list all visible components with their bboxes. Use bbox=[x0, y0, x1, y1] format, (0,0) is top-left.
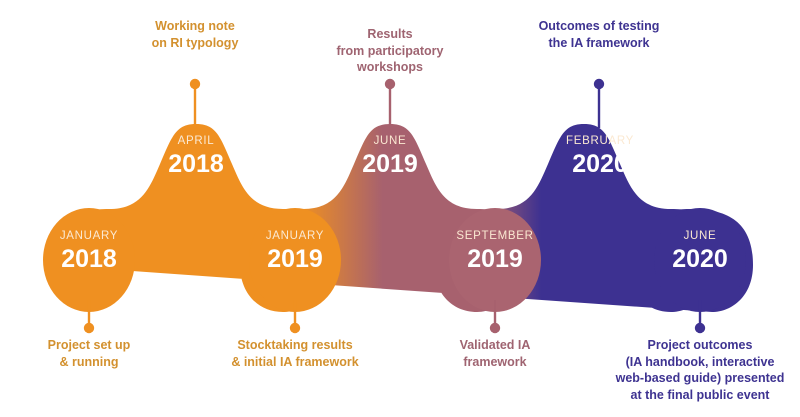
connector-dot bbox=[594, 79, 604, 89]
connector-dot bbox=[84, 323, 94, 333]
caption-jan-2019: Stocktaking results & initial IA framewo… bbox=[217, 337, 373, 370]
caption-jun-2019: Results from participatory workshops bbox=[320, 26, 460, 76]
caption-apr-2018: Working note on RI typology bbox=[125, 18, 265, 51]
wave-ribbon bbox=[47, 124, 753, 312]
connector-top-feb-2020 bbox=[594, 79, 604, 128]
connector-dot bbox=[290, 323, 300, 333]
lobe-sep-2019 bbox=[449, 208, 541, 312]
timeline-infographic: JANUARY 2018 APRIL 2018 JANUARY 2019 JUN… bbox=[0, 0, 800, 417]
connector-dot bbox=[490, 323, 500, 333]
connector-dot bbox=[385, 79, 395, 89]
caption-jan-2018: Project set up & running bbox=[19, 337, 159, 370]
caption-feb-2020: Outcomes of testing the IA framework bbox=[529, 18, 669, 51]
lobe-jan-2019 bbox=[249, 208, 341, 312]
lobe-jun-2020 bbox=[654, 208, 746, 312]
wave-path bbox=[47, 124, 753, 312]
lobe-jan-2018 bbox=[43, 208, 135, 312]
connector-dot bbox=[695, 323, 705, 333]
connector-top-jun-2019 bbox=[385, 79, 395, 128]
caption-jun-2020: Project outcomes (IA handbook, interacti… bbox=[604, 337, 796, 403]
connector-dot bbox=[190, 79, 200, 89]
caption-sep-2019: Validated IA framework bbox=[432, 337, 558, 370]
connector-top-apr-2018 bbox=[190, 79, 200, 128]
